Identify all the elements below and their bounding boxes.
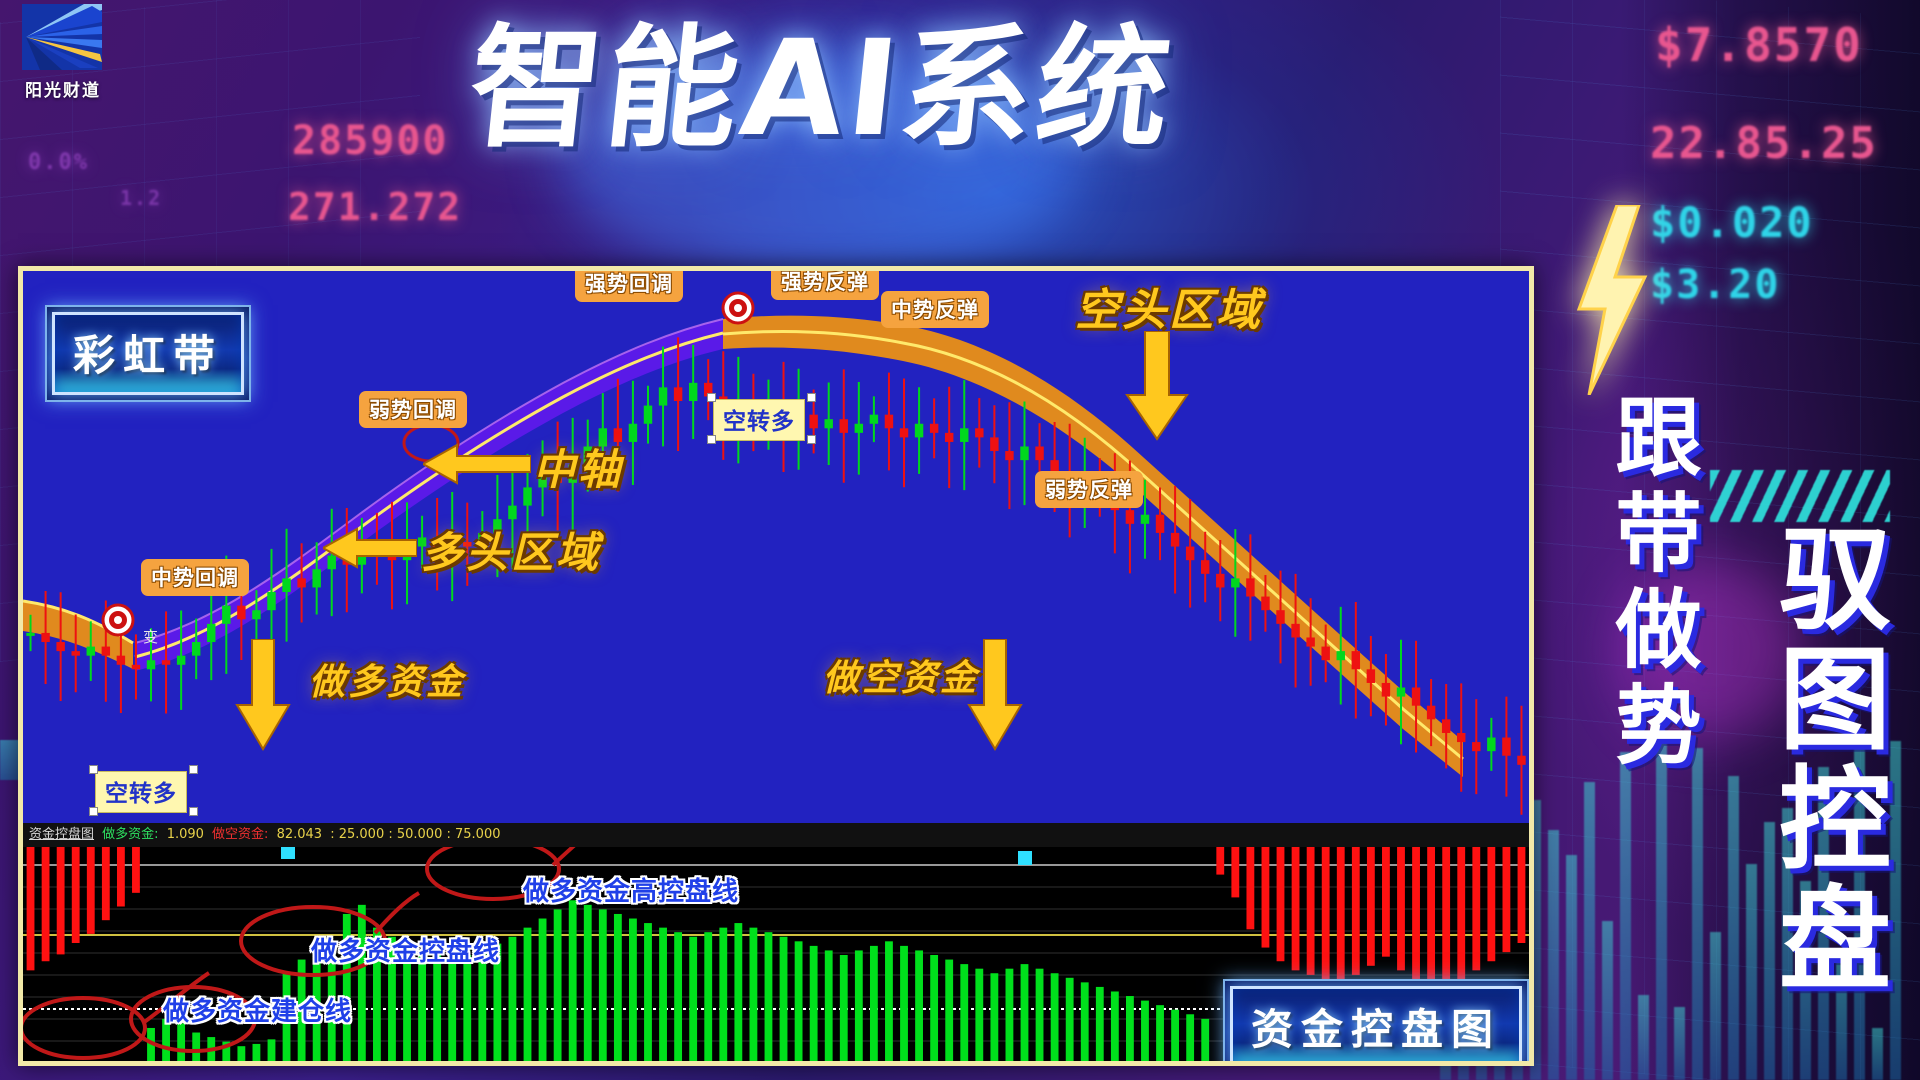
callout-long-funds: 做多资金 (309, 653, 465, 705)
brand-logo-text: 阳光财道 (22, 76, 104, 101)
background-number-0: 285900 (292, 118, 449, 164)
callout-short-funds: 做空资金 (823, 649, 979, 701)
fund-control-title-text: 资金控盘图 (1251, 1006, 1501, 1053)
signal-tag-weak-rebound[interactable]: 弱势反弹 (1035, 471, 1143, 508)
signal-tag-strong-rebound[interactable]: 强势反弹 (771, 271, 879, 300)
trading-chart-frame[interactable]: 变 强势回调 强势反弹 中势反弹 弱势回调 中势回调 弱势反弹 空转多 空转多 … (18, 266, 1534, 1066)
background-number-decor-a: 0.0% (28, 150, 89, 175)
selection-handle-tl-a[interactable] (707, 393, 716, 402)
slogan-small: 跟带做势 (1588, 392, 1713, 776)
selection-handle-tr-a[interactable] (807, 393, 816, 402)
selection-handle-tr-b[interactable] (189, 765, 198, 774)
chart-status-bar: 资金控盘图 做多资金: 1.090 做空资金: 82.043 : 25.000 … (23, 823, 1529, 847)
background-number-5: $3.20 (1650, 262, 1780, 308)
selection-handle-br-a[interactable] (807, 435, 816, 444)
arrow-down-bear-zone-icon (1125, 331, 1189, 441)
arrow-left-bull-zone-icon (323, 527, 417, 569)
marker-note-left: 变 (143, 626, 158, 647)
selection-handle-tl-b[interactable] (89, 765, 98, 774)
vol-annotation-control-line: 做多资金控盘线 (311, 931, 500, 968)
rainbow-band-title-box: 彩虹带 (45, 305, 251, 402)
signal-tag-medium-rebound[interactable]: 中势反弹 (881, 291, 989, 328)
background-number-4: $0.020 (1650, 198, 1814, 247)
selection-handle-br-b[interactable] (189, 807, 198, 816)
status-short-value: 82.043 (277, 827, 323, 842)
signal-tag-weak-pullback[interactable]: 弱势回调 (359, 391, 467, 428)
arrow-down-long-funds-icon (235, 639, 291, 751)
vol-annotation-build-line: 做多资金建仓线 (163, 991, 352, 1028)
page-title: 智能AI系统 (463, 18, 1478, 161)
arrow-left-mid-axis-icon (423, 443, 531, 485)
selection-handle-bl-a[interactable] (707, 435, 716, 444)
background-number-3: 22.85.25 (1650, 118, 1878, 169)
signal-tag-short-to-long-center[interactable]: 空转多 (713, 399, 805, 441)
selection-handle-bl-b[interactable] (89, 807, 98, 816)
status-long-value: 1.090 (167, 827, 204, 842)
background-number-1: 271.272 (288, 185, 462, 229)
signal-tag-strong-pullback[interactable]: 强势回调 (575, 271, 683, 302)
status-short-label: 做空资金: (212, 827, 268, 842)
signal-tag-medium-pullback[interactable]: 中势回调 (141, 559, 249, 596)
status-levels: : 25.000 : 50.000 : 75.000 (330, 827, 500, 842)
brand-logo: 阳光财道 (22, 4, 104, 96)
callout-mid-axis: 中轴 (533, 436, 623, 497)
fund-control-title-box: 资金控盘图 (1223, 979, 1529, 1066)
sunburst-logo-icon (22, 4, 102, 70)
background-number-decor-b: 1.2 (120, 186, 162, 210)
callout-bull-zone: 多头区域 (421, 519, 601, 580)
background-number-2: $7.8570 (1655, 18, 1863, 72)
signal-marker-bullseye-center[interactable] (721, 291, 755, 325)
callout-bear-zone: 空头区域 (1075, 274, 1263, 338)
rainbow-band-title-text: 彩虹带 (73, 332, 223, 379)
signal-marker-bullseye-left[interactable] (101, 603, 135, 637)
arrow-down-short-funds-icon (967, 639, 1023, 751)
signal-tag-short-to-long-left[interactable]: 空转多 (95, 771, 187, 813)
vol-annotation-high-control-line: 做多资金高控盘线 (523, 871, 739, 908)
status-pane-name: 资金控盘图 (29, 827, 94, 842)
background-hatch-decor (1710, 470, 1890, 522)
status-long-label: 做多资金: (102, 827, 158, 842)
lightning-bolt-icon (1565, 205, 1655, 395)
slogan-large: 驭图控盘 (1744, 520, 1906, 1000)
